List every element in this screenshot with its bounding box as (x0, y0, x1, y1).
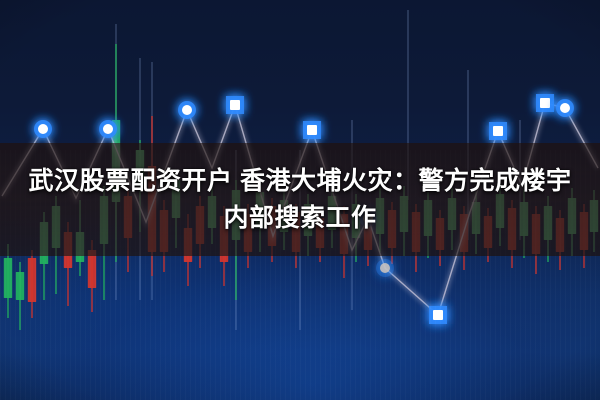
trend-node-5 (307, 125, 317, 135)
trend-node-1 (38, 124, 48, 134)
trend-node-9 (493, 126, 503, 136)
trend-node-8 (433, 310, 443, 320)
trend-node-4 (230, 100, 240, 110)
trend-node-2 (103, 124, 113, 134)
trend-node-7 (380, 263, 390, 273)
headline-line-2: 内部搜索工作 (223, 202, 376, 235)
page-title: 武汉股票配资开户 香港大埔火灾：警方完成楼宇 内部搜索工作 (0, 143, 600, 256)
trend-node-10 (540, 98, 550, 108)
trend-node-3 (182, 105, 192, 115)
headline-line-1: 武汉股票配资开户 香港大埔火灾：警方完成楼宇 (29, 165, 572, 198)
trend-node-11 (560, 103, 570, 113)
finance-news-banner: 武汉股票配资开户 香港大埔火灾：警方完成楼宇 内部搜索工作 (0, 0, 600, 400)
